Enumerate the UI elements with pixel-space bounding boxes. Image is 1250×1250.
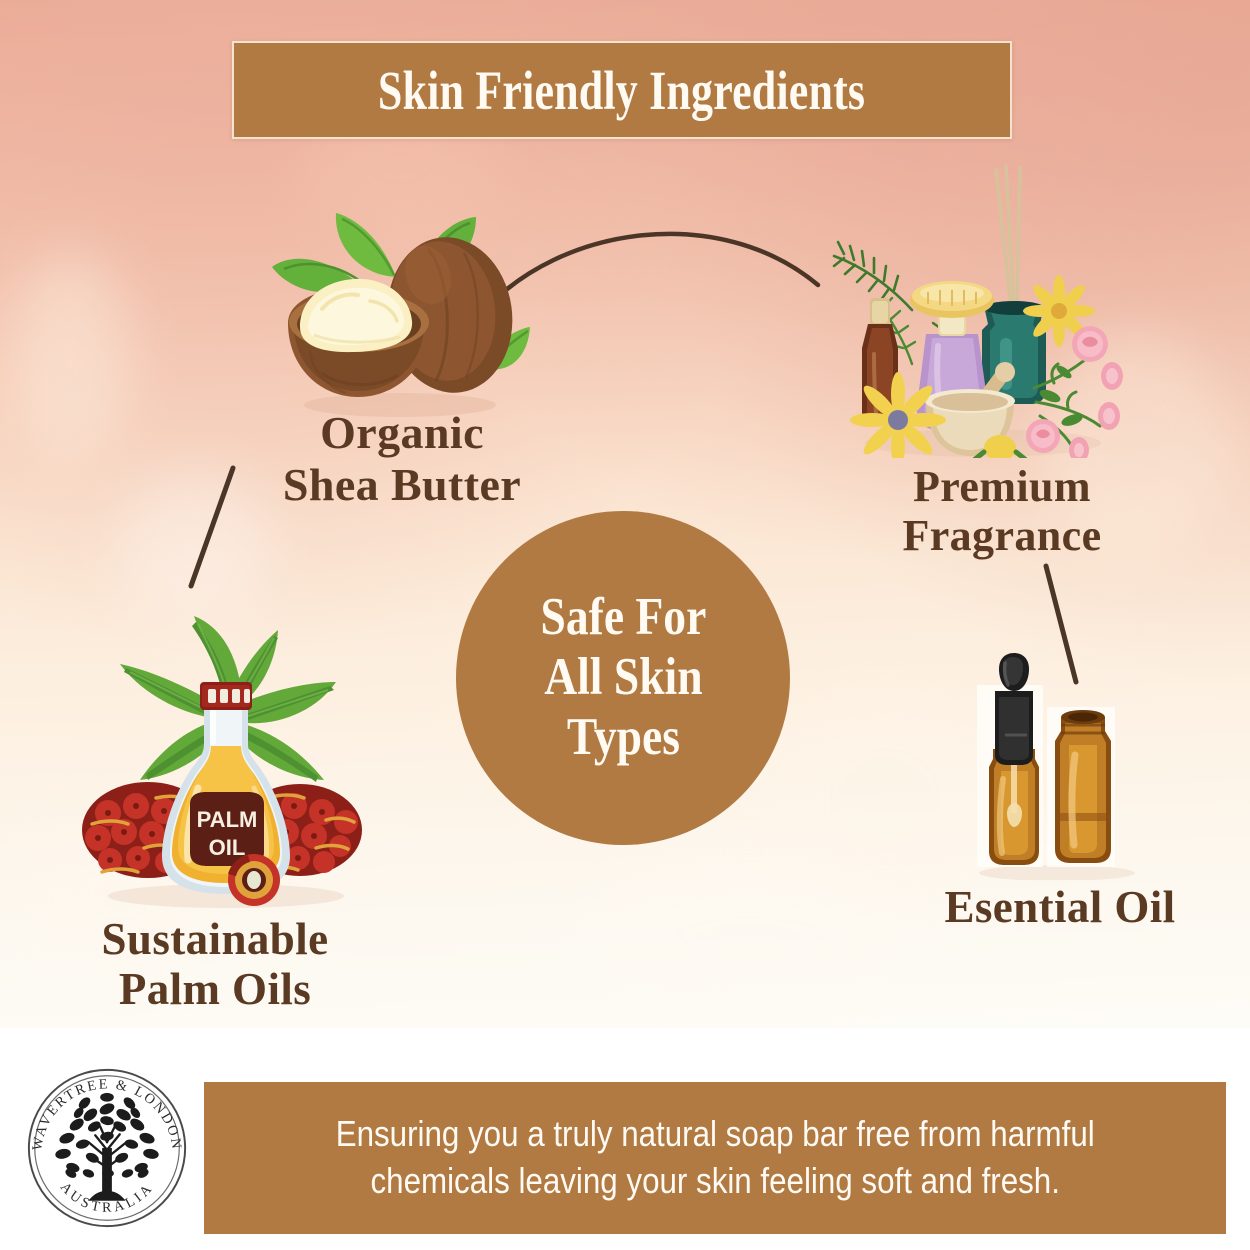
fragrance-label-line2: Fragrance: [852, 511, 1152, 560]
bokeh-blob: [600, 860, 900, 1010]
footer-message: Ensuring you a truly natural soap bar fr…: [335, 1111, 1094, 1205]
palm-label-line2: OIL: [209, 835, 246, 860]
ingredient-label-essential-oil: Esential Oil: [880, 882, 1240, 932]
brand-logo: WAVERTREE & LONDON AUSTRALIA: [24, 1063, 190, 1233]
essential-oil-bottles-illustration: [965, 645, 1155, 880]
ingredient-label-fragrance: Premium Fragrance: [852, 462, 1152, 561]
palm-label-line1: Sustainable: [40, 914, 390, 964]
badge-line-3: Types: [540, 708, 706, 768]
palm-label-line1: PALM: [197, 807, 258, 832]
palm-oil-bottle-illustration: PALM OIL: [78, 608, 368, 908]
badge-text: Safe For All Skin Types: [540, 588, 706, 768]
page-title-banner: Skin Friendly Ingredients: [232, 41, 1012, 139]
shea-label-line1: Organic: [232, 407, 572, 459]
safe-for-all-skin-types-badge: Safe For All Skin Types: [456, 511, 790, 845]
perfume-bottles-illustration: [828, 158, 1128, 458]
shea-nut-illustration: [250, 205, 530, 420]
infographic-page: Skin Friendly Ingredients: [0, 0, 1250, 1250]
ingredient-label-shea-butter: Organic Shea Butter: [232, 407, 572, 510]
ingredient-label-palm-oil: Sustainable Palm Oils: [40, 914, 390, 1015]
badge-line-1: Safe For: [540, 588, 706, 648]
footer-message-banner: Ensuring you a truly natural soap bar fr…: [204, 1082, 1226, 1234]
page-title: Skin Friendly Ingredients: [378, 63, 865, 118]
shea-label-line2: Shea Butter: [232, 459, 572, 511]
badge-line-2: All Skin: [540, 648, 706, 708]
essential-label-line1: Esential Oil: [880, 882, 1240, 932]
fragrance-label-line1: Premium: [852, 462, 1152, 511]
bokeh-blob: [10, 250, 130, 460]
palm-label-line2: Palm Oils: [40, 964, 390, 1014]
